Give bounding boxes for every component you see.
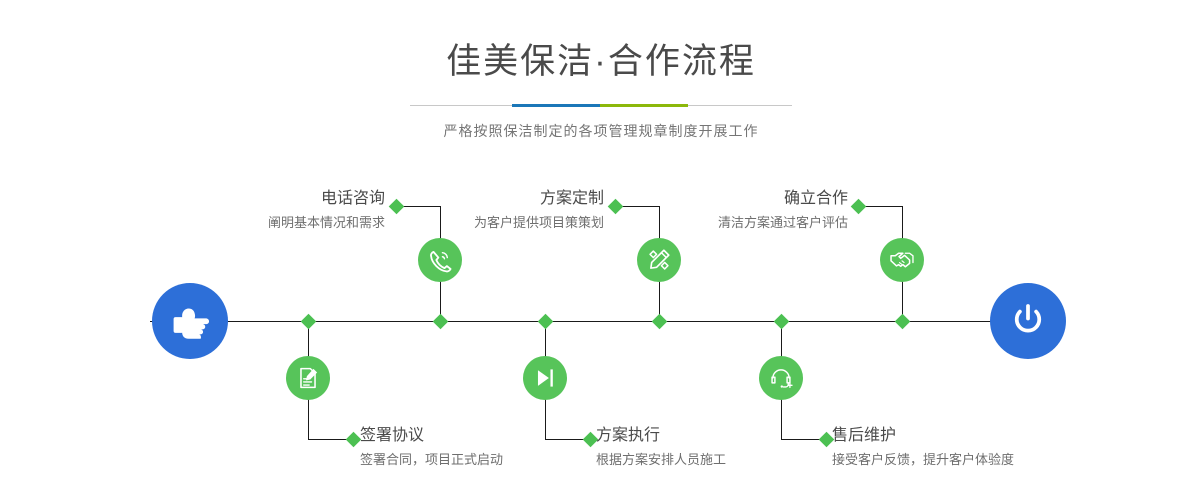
axis-marker-step-2	[301, 314, 317, 330]
pencil-ruler-icon	[646, 247, 672, 273]
step-title-5: 确立合作	[565, 188, 848, 210]
axis-marker-step-3	[652, 314, 668, 330]
title-divider	[410, 104, 792, 107]
header: 佳美保洁·合作流程 严格按照保洁制定的各项管理规章制度开展工作	[0, 0, 1202, 141]
step-node-5[interactable]	[880, 238, 924, 282]
label-marker-step-2	[346, 432, 362, 448]
divider-blue-segment	[512, 104, 600, 107]
end-endpoint	[990, 283, 1066, 359]
page-title: 佳美保洁·合作流程	[0, 44, 1202, 79]
step-node-3[interactable]	[637, 238, 681, 282]
step-label-3: 方案定制 为客户提供项目策策划	[320, 188, 604, 232]
axis-marker-step-4	[538, 314, 554, 330]
step-node-6[interactable]	[759, 356, 803, 400]
timeline-axis	[150, 321, 1052, 322]
start-endpoint	[152, 283, 228, 359]
pointing-hand-icon	[169, 300, 211, 342]
divider-green-segment	[600, 104, 688, 107]
axis-marker-step-5	[895, 314, 911, 330]
step-desc-6: 接受客户反馈，提升客户体验度	[832, 450, 1162, 470]
step-node-4[interactable]	[523, 356, 567, 400]
handshake-icon	[889, 247, 916, 274]
step-label-5: 确立合作 清洁方案通过客户评估	[565, 188, 848, 232]
support-agent-icon	[768, 365, 794, 391]
axis-marker-step-1	[433, 314, 449, 330]
step-label-6: 售后维护 接受客户反馈，提升客户体验度	[832, 425, 1162, 469]
step-title-3: 方案定制	[320, 188, 604, 210]
step-title-6: 售后维护	[832, 425, 1162, 447]
step-node-2[interactable]	[286, 356, 330, 400]
step-desc-5: 清洁方案通过客户评估	[565, 213, 848, 233]
axis-marker-step-6	[774, 314, 790, 330]
step-desc-3: 为客户提供项目策策划	[320, 213, 604, 233]
document-edit-icon	[296, 366, 321, 391]
phone-call-icon	[427, 247, 453, 273]
page-subtitle: 严格按照保洁制定的各项管理规章制度开展工作	[0, 121, 1202, 141]
step-node-1[interactable]	[418, 238, 462, 282]
play-forward-icon	[533, 366, 558, 391]
power-button-icon	[1008, 301, 1048, 341]
label-marker-step-5	[851, 199, 867, 215]
flow-diagram-canvas: 佳美保洁·合作流程 严格按照保洁制定的各项管理规章制度开展工作	[0, 0, 1202, 502]
